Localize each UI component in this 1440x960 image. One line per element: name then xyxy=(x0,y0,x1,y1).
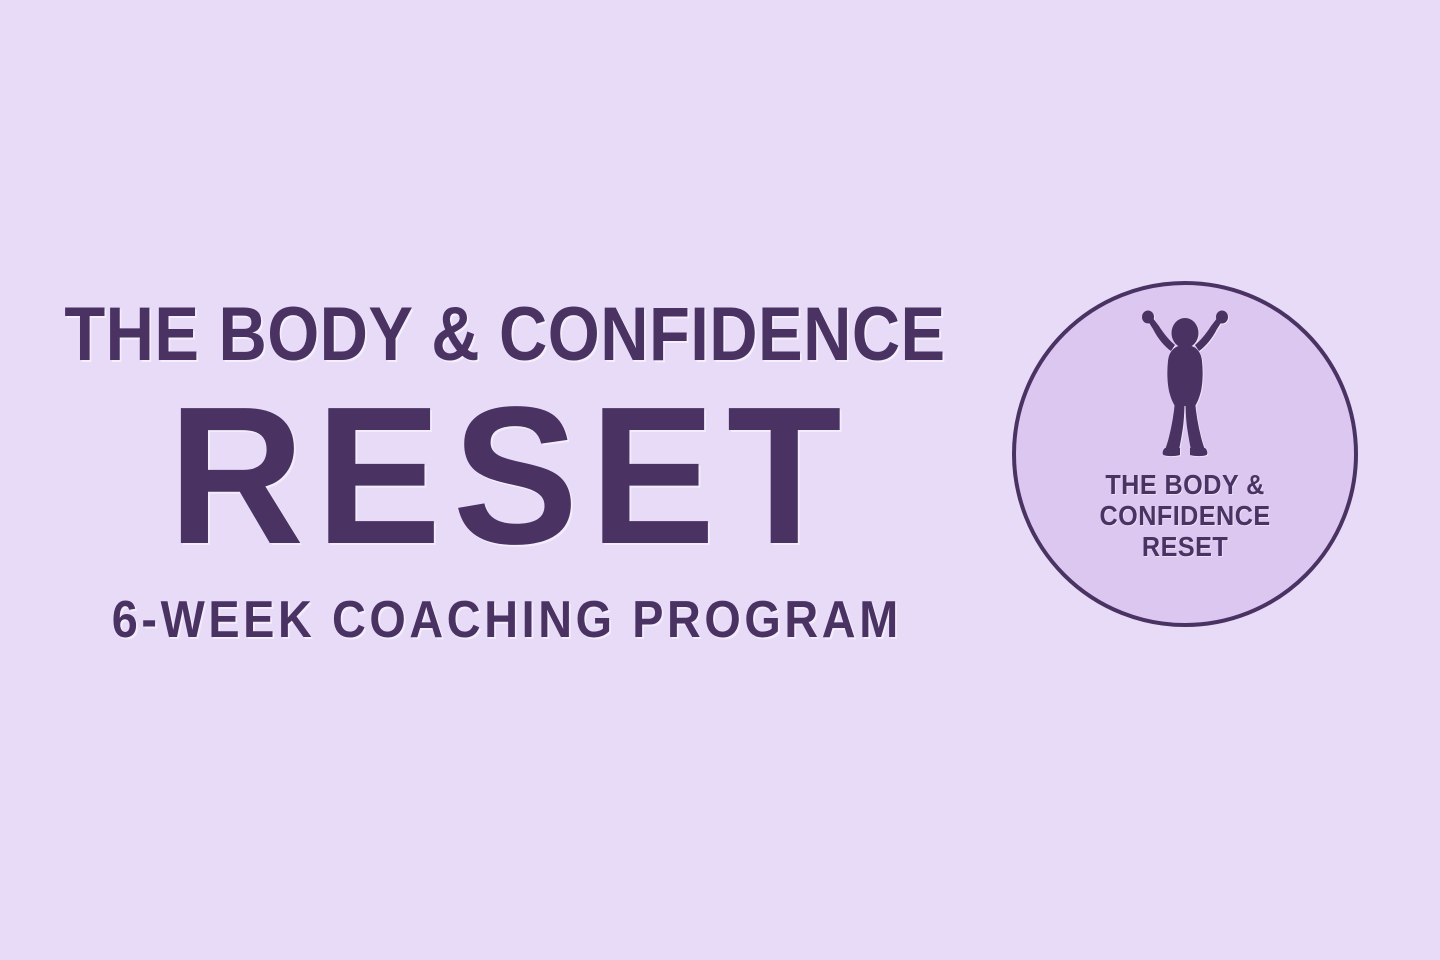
badge-text-block: THE BODY & CONFIDENCE RESET xyxy=(1090,469,1280,562)
badge-line-2: CONFIDENCE xyxy=(1099,500,1270,531)
poster-canvas: THE BODY & CONFIDENCE RESET 6-WEEK COACH… xyxy=(0,0,1440,960)
logo-badge: THE BODY & CONFIDENCE RESET xyxy=(1012,281,1358,627)
headline-block: THE BODY & CONFIDENCE RESET 6-WEEK COACH… xyxy=(0,296,1010,648)
headline-eyebrow: THE BODY & CONFIDENCE xyxy=(61,296,950,374)
raised-arms-figure-icon xyxy=(1125,309,1245,459)
badge-line-3: RESET xyxy=(1099,531,1270,562)
headline-subtitle: 6-WEEK COACHING PROGRAM xyxy=(51,592,960,648)
page-title: RESET xyxy=(20,378,990,574)
badge-line-1: THE BODY & xyxy=(1099,469,1270,500)
